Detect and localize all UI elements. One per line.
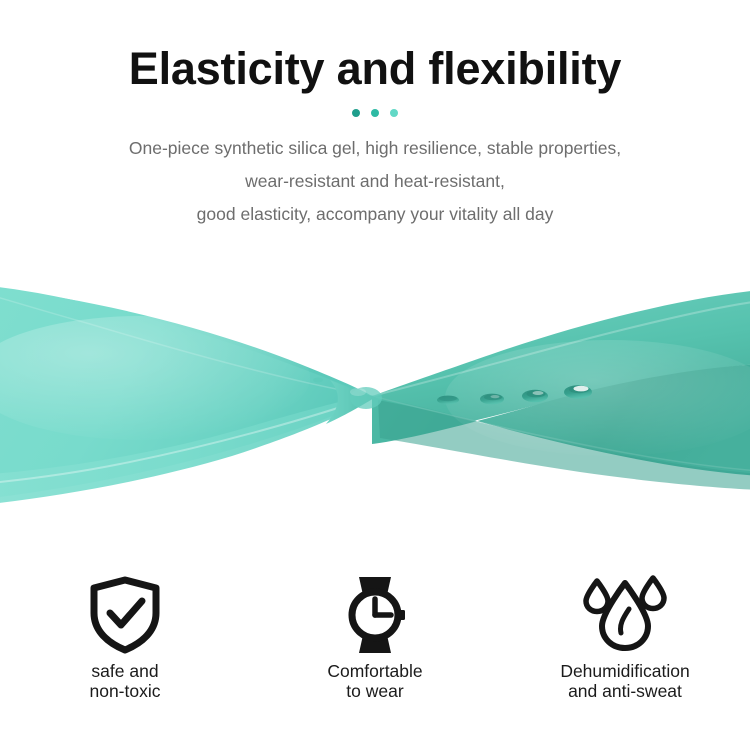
subtitle-line-3: good elasticity, accompany your vitality…	[0, 198, 750, 231]
dot-3-icon	[390, 109, 398, 117]
feature-label-safe-non-toxic: safe and non-toxic	[0, 661, 250, 701]
band-right-half	[372, 290, 750, 490]
band-left-half	[0, 286, 374, 504]
product-feature-page: Elasticity and flexibility One-piece syn…	[0, 0, 750, 750]
feature-dehumidification-anti-sweat: Dehumidification and anti-sweat	[500, 575, 750, 701]
dot-separator	[0, 108, 750, 118]
surface-speckle	[313, 378, 323, 383]
subtitle-line-1: One-piece synthetic silica gel, high res…	[0, 132, 750, 165]
feature-label-line-2: non-toxic	[0, 681, 250, 701]
feature-label-line-2: and anti-sweat	[500, 681, 750, 701]
dot-1-icon	[352, 109, 360, 117]
feature-safe-non-toxic: safe and non-toxic	[0, 575, 250, 701]
page-title: Elasticity and flexibility	[0, 0, 750, 94]
adjustment-hole-1	[437, 396, 459, 405]
adjustment-hole-2	[480, 394, 504, 405]
feature-label-line-1: Comfortable	[250, 661, 500, 681]
adjustment-hole-3	[522, 390, 548, 402]
feature-label-dehumidification-anti-sweat: Dehumidification and anti-sweat	[500, 661, 750, 701]
feature-label-line-1: safe and	[0, 661, 250, 681]
dot-2-icon	[371, 109, 379, 117]
feature-comfortable-to-wear: Comfortable to wear	[250, 575, 500, 701]
feature-label-comfortable-to-wear: Comfortable to wear	[250, 661, 500, 701]
header: Elasticity and flexibility One-piece syn…	[0, 0, 750, 231]
subtitle: One-piece synthetic silica gel, high res…	[0, 118, 750, 231]
feature-list: safe and non-toxic	[0, 575, 750, 701]
feature-label-line-1: Dehumidification	[500, 661, 750, 681]
subtitle-line-2: wear-resistant and heat-resistant,	[0, 165, 750, 198]
adjustment-hole-4	[564, 385, 592, 399]
shield-check-icon	[0, 575, 250, 655]
product-image	[0, 268, 750, 533]
water-drops-icon	[500, 575, 750, 655]
wristwatch-icon	[250, 575, 500, 655]
feature-label-line-2: to wear	[250, 681, 500, 701]
